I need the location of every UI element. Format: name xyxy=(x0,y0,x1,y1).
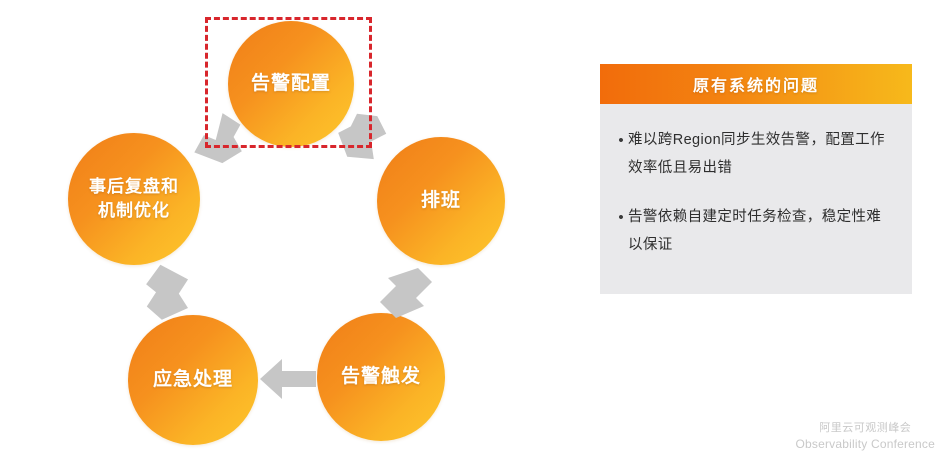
cycle-node-review-label: 事后复盘和 机制优化 xyxy=(83,175,185,223)
list-item: • 难以跨Region同步生效告警，配置工作效率低且易出错 xyxy=(614,126,894,183)
list-item: • 告警依赖自建定时任务检查，稳定性难以保证 xyxy=(614,203,894,260)
cycle-diagram: 告警配置 排班 告警触发 应急处理 事后复盘和 机制优化 xyxy=(0,0,560,459)
watermark-line-en: Observability Conference xyxy=(795,436,935,452)
list-item-text: 告警依赖自建定时任务检查，稳定性难以保证 xyxy=(628,203,894,260)
cycle-node-review-label-line1: 事后复盘和 xyxy=(89,177,179,196)
list-item-text: 难以跨Region同步生效告警，配置工作效率低且易出错 xyxy=(628,126,894,183)
cycle-node-alert-trigger[interactable]: 告警触发 xyxy=(317,313,445,441)
cycle-node-emergency-label: 应急处理 xyxy=(147,367,239,394)
watermark-line-cn: 阿里云可观测峰会 xyxy=(795,421,935,436)
cycle-node-emergency[interactable]: 应急处理 xyxy=(128,315,258,445)
problem-panel-title: 原有系统的问题 xyxy=(693,72,819,96)
cycle-node-review[interactable]: 事后复盘和 机制优化 xyxy=(68,133,200,265)
cycle-node-alert-trigger-label: 告警触发 xyxy=(335,364,427,391)
arrow-oncall-to-alert-trigger xyxy=(372,266,438,328)
bullet-icon: • xyxy=(614,203,628,232)
arrow-emergency-to-review xyxy=(136,262,198,322)
problem-panel-header: 原有系统的问题 xyxy=(600,64,912,104)
watermark: 阿里云可观测峰会 Observability Conference xyxy=(795,421,935,452)
arrow-alert-trigger-to-emergency xyxy=(258,355,320,403)
problem-panel: 原有系统的问题 • 难以跨Region同步生效告警，配置工作效率低且易出错 • … xyxy=(600,64,912,294)
cycle-node-review-label-line2: 机制优化 xyxy=(98,201,170,220)
problem-panel-body: • 难以跨Region同步生效告警，配置工作效率低且易出错 • 告警依赖自建定时… xyxy=(600,104,912,294)
cycle-node-oncall-label: 排班 xyxy=(415,188,467,215)
bullet-icon: • xyxy=(614,126,628,155)
highlight-box-alert-config xyxy=(205,17,372,148)
